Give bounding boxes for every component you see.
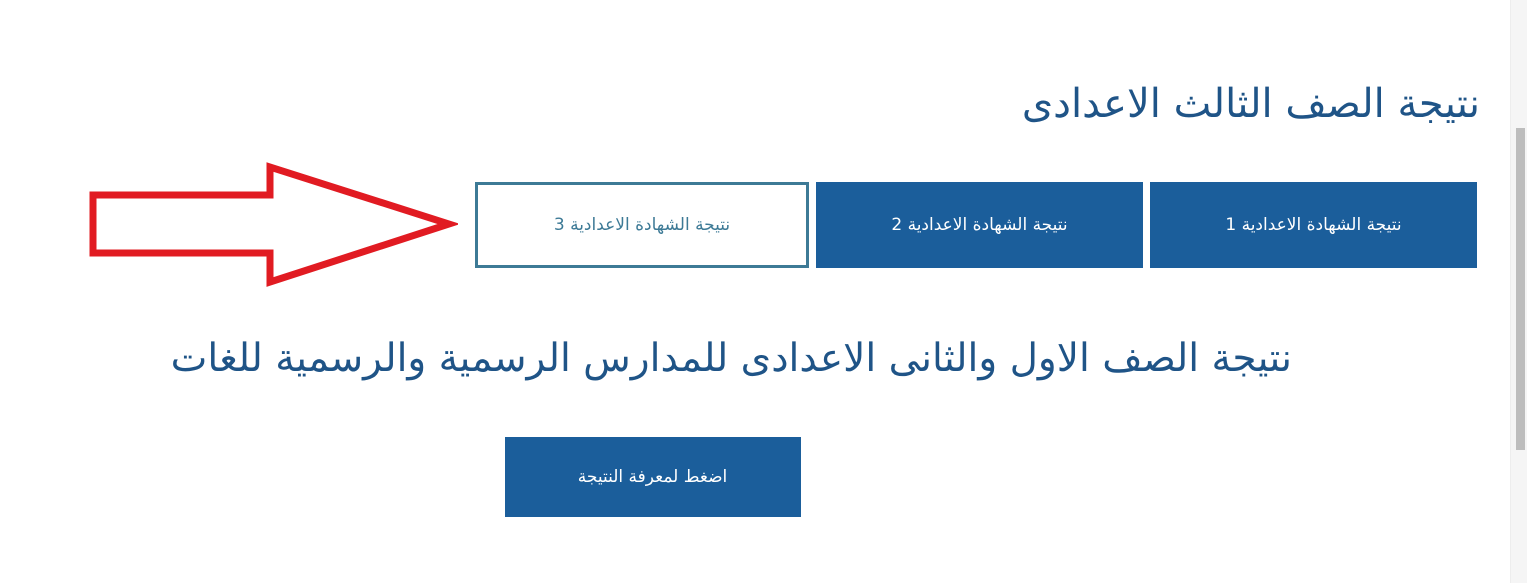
- tab-certificate-result-2[interactable]: نتيجة الشهادة الاعدادية 2: [816, 182, 1143, 268]
- tab-label: نتيجة الشهادة الاعدادية 1: [1225, 214, 1401, 236]
- page-scrollbar-thumb[interactable]: [1516, 128, 1525, 450]
- right-arrow-annotation-icon: [88, 160, 458, 290]
- annotation-layer: [88, 160, 458, 290]
- page-scrollbar-track[interactable]: [1510, 0, 1527, 583]
- result-tabs: نتيجة الشهادة الاعدادية 1 نتيجة الشهادة …: [475, 182, 1477, 268]
- show-result-button[interactable]: اضغط لمعرفة النتيجة: [505, 437, 801, 517]
- tab-label: نتيجة الشهادة الاعدادية 3: [554, 214, 730, 236]
- cta-row: اضغط لمعرفة النتيجة: [0, 437, 1510, 523]
- tab-certificate-result-3[interactable]: نتيجة الشهادة الاعدادية 3: [475, 182, 809, 268]
- section-subtitle: نتيجة الصف الاول والثانى الاعدادى للمدار…: [112, 335, 1292, 384]
- tab-certificate-result-1[interactable]: نتيجة الشهادة الاعدادية 1: [1150, 182, 1477, 268]
- page-content: نتيجة الصف الثالث الاعدادى نتيجة الشهادة…: [0, 0, 1510, 583]
- page-title: نتيجة الصف الثالث الاعدادى: [25, 79, 1480, 129]
- arrow-shape: [93, 167, 449, 282]
- tab-label: نتيجة الشهادة الاعدادية 2: [891, 214, 1067, 236]
